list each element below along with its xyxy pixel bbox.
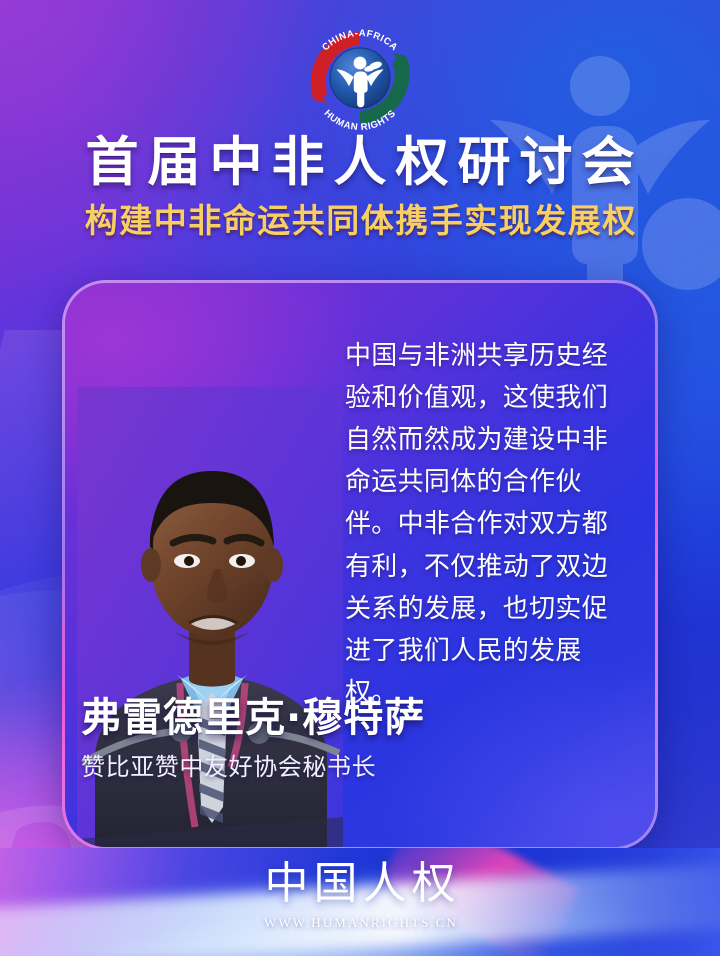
quote-text: 中国与非洲共享历史经验和价值观，这使我们自然而然成为建设中非命运共同体的合作伙伴…: [345, 335, 633, 714]
brand-name: 中国人权: [260, 862, 461, 906]
footer-brand: 中国人权 WWW.HUMANRIGHTS.CN: [260, 862, 461, 931]
page-title: 首届中非人权研讨会: [0, 135, 720, 191]
quote-card-inner: 中国与非洲共享历史经验和价值观，这使我们自然而然成为建设中非命运共同体的合作伙伴…: [65, 283, 655, 847]
speaker-name: 弗雷德里克·穆特萨: [81, 696, 624, 741]
speaker-block: 弗雷德里克·穆特萨 赞比亚赞中友好协会秘书长: [81, 696, 624, 783]
poster-root: 25: [0, 0, 720, 956]
page-subtitle: 构建中非命运共同体携手实现发展权: [0, 202, 720, 240]
quote-card: 中国与非洲共享历史经验和价值观，这使我们自然而然成为建设中非命运共同体的合作伙伴…: [62, 280, 658, 850]
footer-bar: 中国人权 WWW.HUMANRIGHTS.CN: [0, 848, 720, 956]
brand-url: WWW.HUMANRIGHTS.CN: [260, 915, 461, 931]
china-africa-human-rights-logo: CHINA-AFRICA HUMAN RIGHTS: [297, 26, 423, 130]
speaker-role: 赞比亚赞中友好协会秘书长: [81, 753, 624, 783]
